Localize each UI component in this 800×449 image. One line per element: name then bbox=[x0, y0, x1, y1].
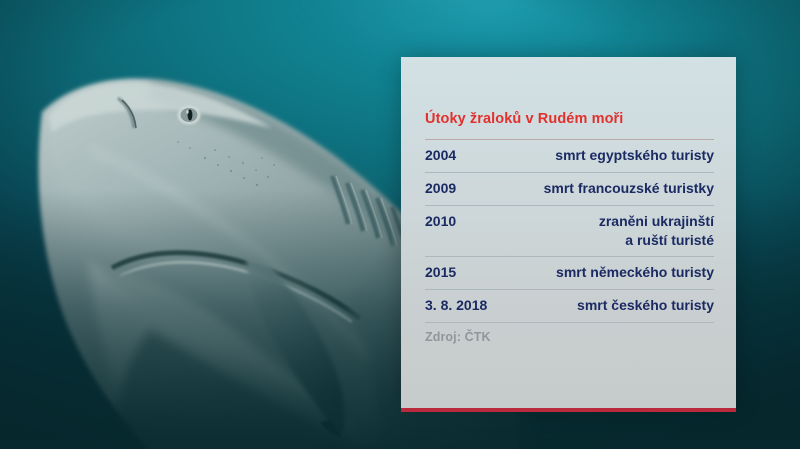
screenshot-root: Útoky žraloků v Rudém moři 2004 smrt egy… bbox=[0, 0, 800, 449]
row-description-line2: a ruští turisté bbox=[497, 231, 714, 250]
row-year: 3. 8. 2018 bbox=[425, 296, 497, 315]
table-row: 2010 zraněni ukrajinští a ruští turisté bbox=[425, 205, 714, 256]
panel-title: Útoky žraloků v Rudém moři bbox=[425, 111, 623, 127]
attacks-table: 2004 smrt egyptského turisty 2009 smrt f… bbox=[425, 139, 714, 344]
table-row: 3. 8. 2018 smrt českého turisty bbox=[425, 289, 714, 322]
row-year: 2004 bbox=[425, 146, 497, 165]
row-description-line1: zraněni ukrajinští bbox=[599, 213, 714, 229]
table-row: 2009 smrt francouzské turistky bbox=[425, 172, 714, 205]
table-row: 2015 smrt německého turisty bbox=[425, 256, 714, 289]
row-description: smrt německého turisty bbox=[497, 263, 714, 282]
row-description: smrt českého turisty bbox=[497, 296, 714, 315]
row-year: 2010 bbox=[425, 212, 497, 231]
row-description: smrt francouzské turistky bbox=[497, 179, 714, 198]
row-year: 2009 bbox=[425, 179, 497, 198]
row-description: zraněni ukrajinští a ruští turisté bbox=[497, 212, 714, 250]
info-panel: Útoky žraloků v Rudém moři 2004 smrt egy… bbox=[401, 57, 736, 408]
row-description: smrt egyptského turisty bbox=[497, 146, 714, 165]
panel-accent-bar bbox=[401, 408, 736, 412]
table-row: 2004 smrt egyptského turisty bbox=[425, 139, 714, 172]
row-year: 2015 bbox=[425, 263, 497, 282]
source-separator: Zdroj: ČTK bbox=[425, 322, 714, 344]
source-label: Zdroj: ČTK bbox=[425, 323, 714, 344]
